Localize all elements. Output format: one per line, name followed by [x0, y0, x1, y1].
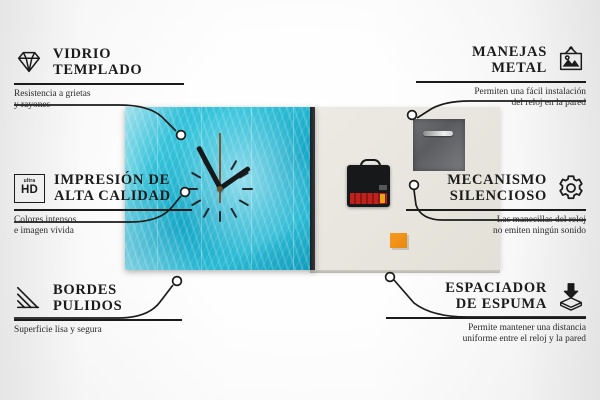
- clock-mechanism: [347, 165, 390, 207]
- product-infographic: VIDRIO TEMPLADO Resistencia a grietas y …: [0, 0, 600, 400]
- callout-description: Resistencia a grietas y rayones: [14, 89, 184, 112]
- hour-hand: [219, 166, 251, 191]
- picture-frame-hanger-icon: [556, 45, 586, 75]
- callout-title: MECANISMO SILENCIOSO: [447, 172, 547, 204]
- gear-icon: [556, 173, 586, 203]
- foam-spacer-arrow-icon: [556, 281, 586, 311]
- ultra-hd-icon-main-label: HD: [21, 185, 38, 197]
- callout-title: MANEJAS METAL: [472, 44, 547, 76]
- callout-rule: [14, 83, 184, 85]
- callout-rule: [416, 81, 586, 83]
- callout-description: Permiten una fácil instalación del reloj…: [416, 87, 586, 110]
- callout-espaciador-espuma: ESPACIADOR DE ESPUMA Permite mantener un…: [386, 280, 586, 346]
- second-hand: [219, 133, 221, 203]
- callout-header: ultra HD IMPRESIÓN DE ALTA CALIDAD: [14, 172, 192, 204]
- callout-header: BORDES PULIDOS: [14, 282, 182, 314]
- beveled-edge-icon: [14, 283, 44, 313]
- callout-title: BORDES PULIDOS: [53, 282, 122, 314]
- callout-vidrio-templado: VIDRIO TEMPLADO Resistencia a grietas y …: [14, 46, 184, 112]
- hanger-loop: [360, 159, 381, 170]
- callout-bordes-pulidos: BORDES PULIDOS Superficie lisa y segura: [14, 282, 182, 336]
- tempered-glass-edge: [310, 107, 315, 270]
- battery-compartment: [350, 193, 387, 204]
- callout-header: MANEJAS METAL: [416, 44, 586, 76]
- glass-seam: [293, 107, 294, 270]
- callout-title: IMPRESIÓN DE ALTA CALIDAD: [54, 172, 171, 204]
- foam-spacer: [390, 233, 407, 248]
- callout-description: Colores intensos e imagen vívida: [14, 215, 192, 238]
- callout-description: Superficie lisa y segura: [14, 325, 182, 337]
- callout-rule: [14, 319, 182, 321]
- mechanism-dial: [379, 185, 387, 190]
- callout-manejas-metal: MANEJAS METAL Permiten una fácil instala…: [416, 44, 586, 110]
- callout-header: VIDRIO TEMPLADO: [14, 46, 184, 78]
- callout-title: VIDRIO TEMPLADO: [53, 46, 142, 78]
- callout-header: ESPACIADOR DE ESPUMA: [386, 280, 586, 312]
- callout-rule: [386, 317, 586, 319]
- callout-description: Permite mantener una distancia uniforme …: [386, 323, 586, 346]
- callout-title: ESPACIADOR DE ESPUMA: [445, 280, 547, 312]
- ultra-hd-icon: ultra HD: [14, 174, 45, 203]
- callout-mecanismo-silencioso: MECANISMO SILENCIOSO Las manecillas del …: [406, 172, 586, 238]
- callout-impresion-alta-calidad: ultra HD IMPRESIÓN DE ALTA CALIDAD Color…: [14, 172, 192, 238]
- hanger-slot: [423, 131, 453, 136]
- callout-rule: [406, 209, 586, 211]
- metal-hanger-plate: [413, 119, 465, 171]
- callout-rule: [14, 209, 192, 211]
- hand-cap: [217, 186, 223, 192]
- callout-description: Las manecillas del reloj no emiten ningú…: [406, 215, 586, 238]
- diamond-icon: [14, 47, 44, 77]
- callout-header: MECANISMO SILENCIOSO: [406, 172, 586, 204]
